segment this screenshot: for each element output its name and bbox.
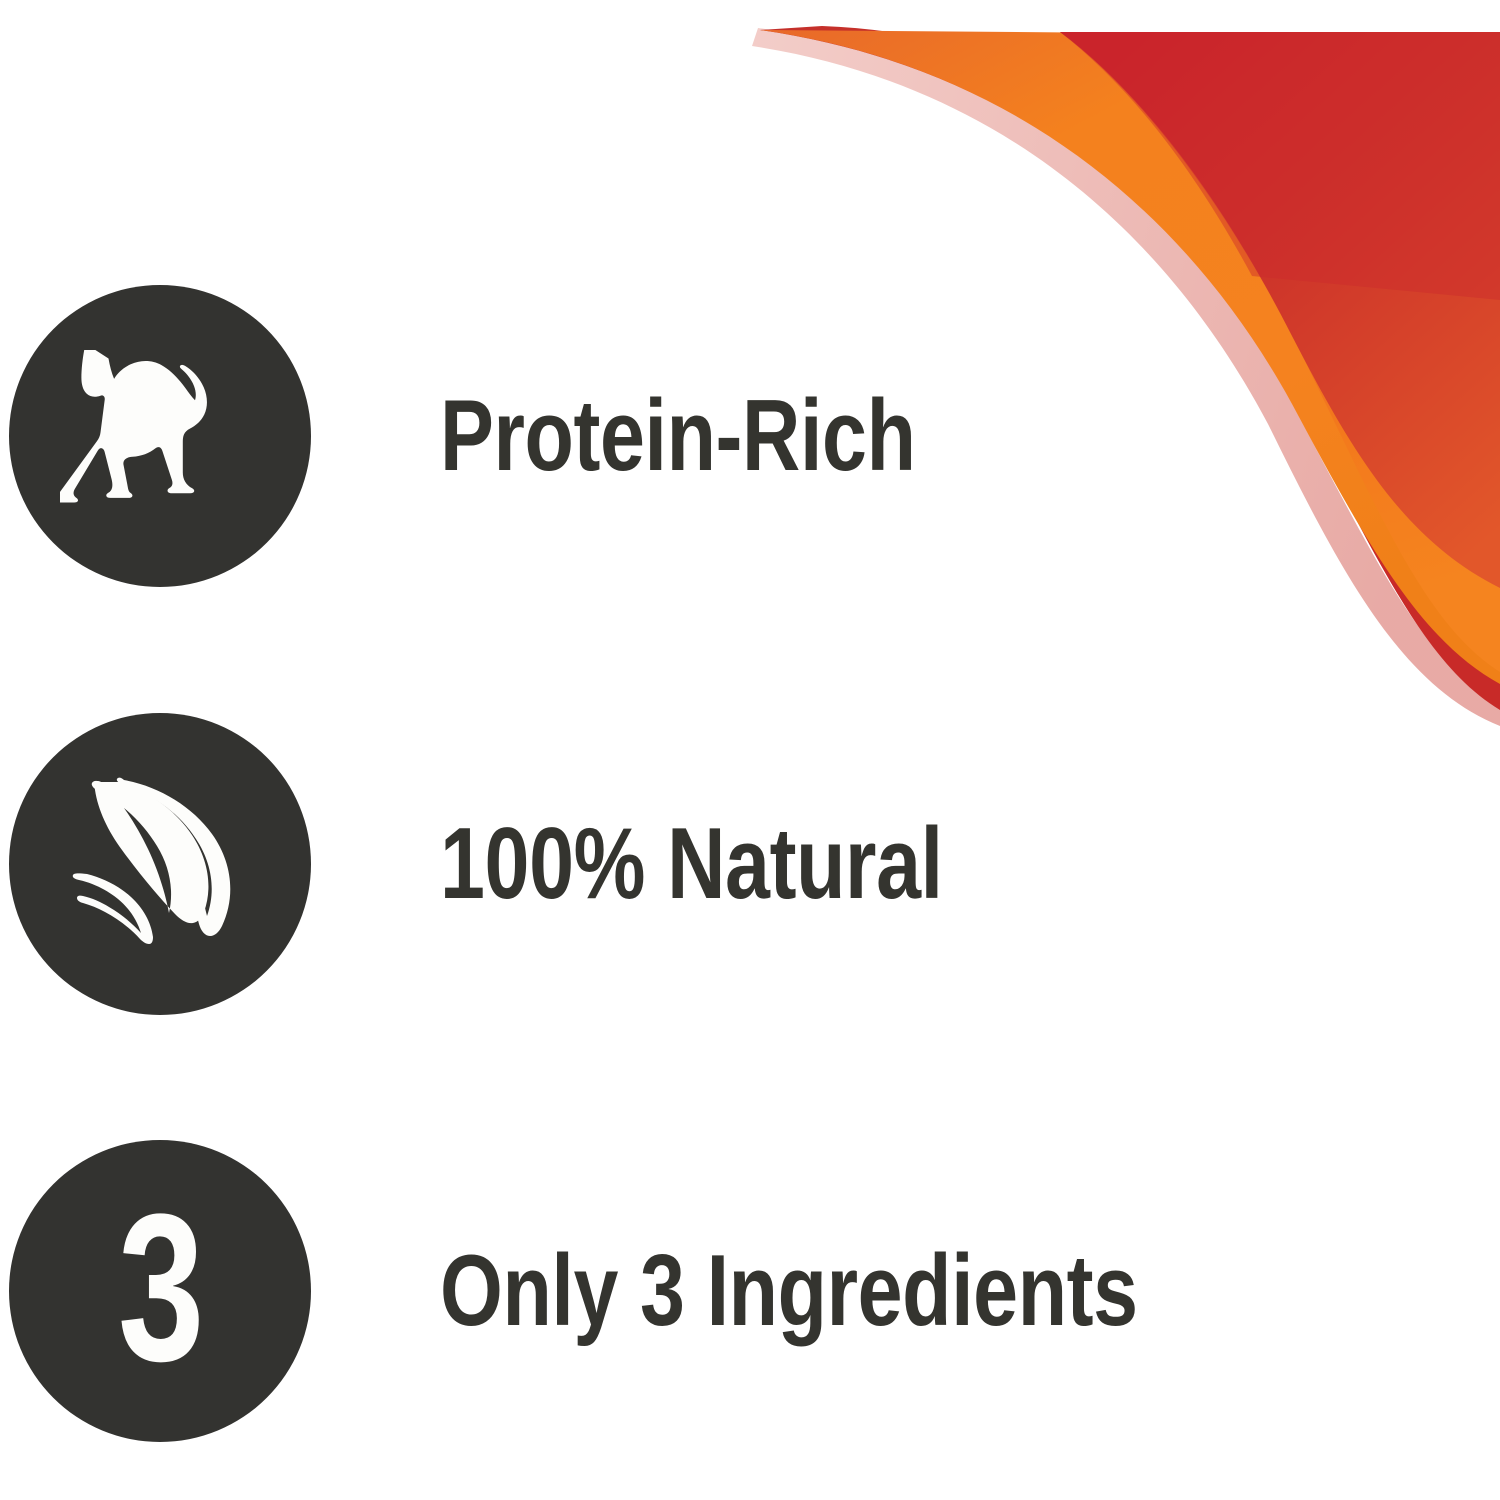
- feature-label-protein-rich: Protein-Rich: [440, 383, 1034, 489]
- cat-silhouette-icon: [60, 350, 260, 522]
- feature-row: Protein-Rich: [0, 285, 1500, 587]
- badge-circle-cat: [9, 285, 311, 587]
- swoosh-streak: [1060, 32, 1500, 300]
- feature-row: 100% Natural: [0, 713, 1500, 1015]
- feature-panel: Protein-Rich 100% Natural 3 Only 3 Ingre…: [0, 0, 1500, 1500]
- number-three-badge: 3: [118, 1183, 203, 1393]
- leaf-icon: [62, 766, 258, 962]
- badge-circle-three: 3: [9, 1140, 311, 1442]
- feature-label-only-3-ingredients: Only 3 Ingredients: [440, 1238, 1312, 1344]
- badge-circle-leaf: [9, 713, 311, 1015]
- feature-label-100-natural: 100% Natural: [440, 811, 1068, 917]
- feature-row: 3 Only 3 Ingredients: [0, 1140, 1500, 1442]
